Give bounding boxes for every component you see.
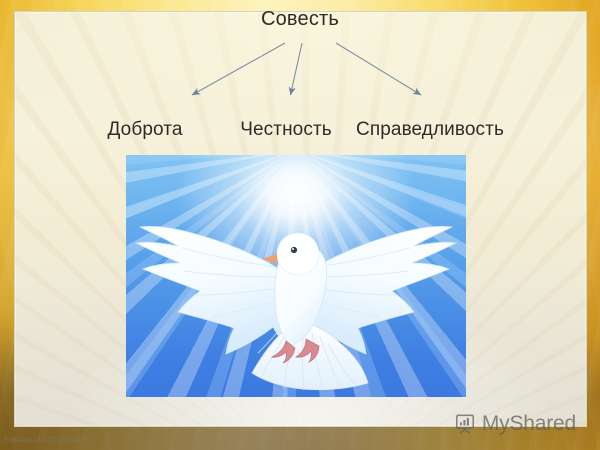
dove-illustration [126, 155, 466, 397]
dove-eye-highlight [292, 248, 294, 250]
presentation-chart-icon [454, 413, 476, 435]
diagram-child-label-3: Справедливость [330, 119, 530, 141]
myshared-watermark: MyShared [454, 412, 576, 436]
slide-canvas: Совесть Доброта Честность Справедливость [0, 0, 600, 450]
dove-eye [291, 247, 297, 253]
diagram-children-row: Доброта Честность Справедливость [0, 119, 600, 145]
myshared-label: MyShared [482, 412, 576, 436]
dove-graphic [126, 155, 466, 397]
diagram-root-label: Совесть [0, 8, 600, 31]
author-email-watermark: FokinaLida.75@mail.ru [4, 435, 91, 444]
dove-left-wing [136, 226, 293, 354]
dove-head [277, 233, 319, 275]
diagram-child-label-1: Доброта [86, 119, 204, 141]
